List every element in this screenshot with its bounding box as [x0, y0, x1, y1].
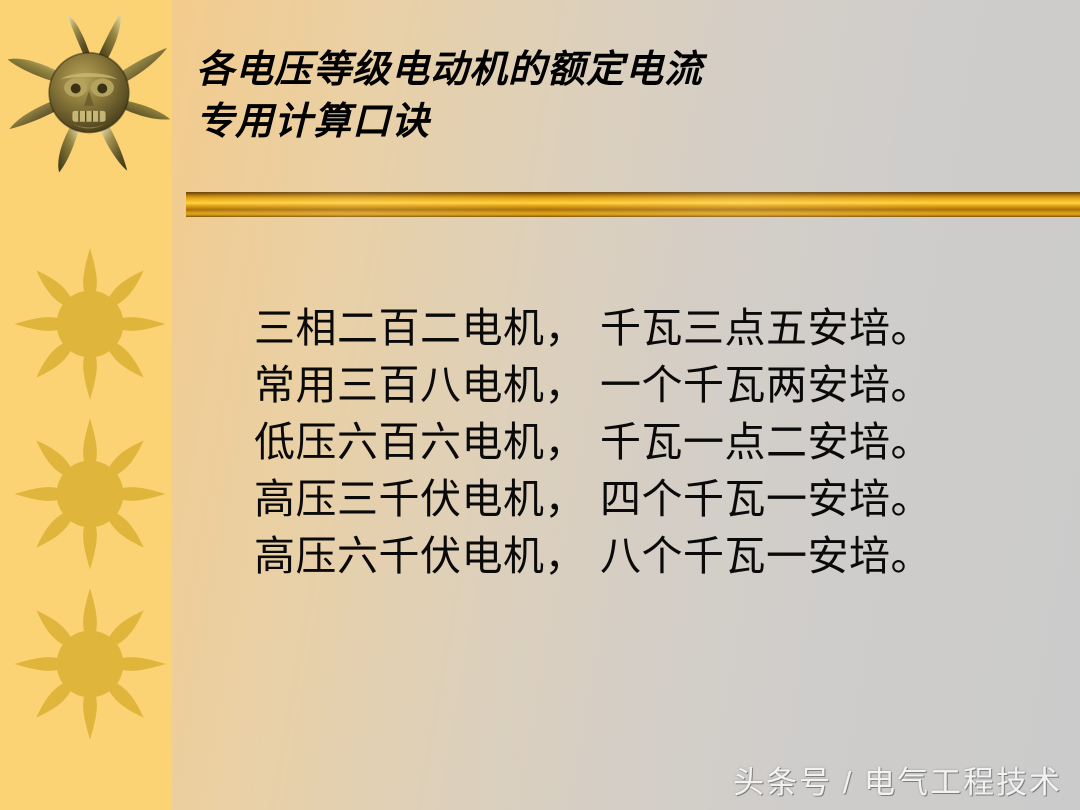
verse-line: 三相二百二电机，千瓦三点五安培。: [178, 300, 1008, 357]
verse-line-part-a: 低压六百六电机，: [254, 419, 586, 465]
verse-line-part-b: 四个千瓦一安培。: [600, 476, 932, 522]
verse-line: 高压三千伏电机，四个千瓦一安培。: [178, 471, 1008, 528]
verse-line-part-a: 常用三百八电机，: [254, 362, 586, 408]
verse-line-part-a: 高压三千伏电机，: [254, 476, 586, 522]
verse-line: 低压六百六电机，千瓦一点二安培。: [178, 414, 1008, 471]
sun-silhouette-icon-1: [2, 236, 178, 412]
verse-line-part-a: 三相二百二电机，: [254, 305, 586, 351]
page-title: 各电压等级电动机的额定电流 专用计算口诀: [196, 44, 1016, 148]
watermark-text: 头条号 / 电气工程技术: [733, 757, 1062, 802]
verse-line: 高压六千伏电机，八个千瓦一安培。: [178, 528, 1008, 585]
presentation-slide: 各电压等级电动机的额定电流 专用计算口诀 三相二百二电机，千瓦三点五安培。 常用…: [0, 0, 1080, 810]
verse-line-part-b: 千瓦三点五安培。: [600, 305, 932, 351]
gold-bar-divider: [186, 192, 1080, 217]
verse-line-part-b: 八个千瓦一安培。: [600, 533, 932, 579]
metallic-sun-face-ornament-icon: [6, 8, 172, 174]
verse-block: 三相二百二电机，千瓦三点五安培。 常用三百八电机，一个千瓦两安培。 低压六百六电…: [178, 300, 1008, 585]
verse-line: 常用三百八电机，一个千瓦两安培。: [178, 357, 1008, 414]
verse-line-part-a: 高压六千伏电机，: [254, 533, 586, 579]
verse-line-part-b: 一个千瓦两安培。: [600, 362, 932, 408]
sun-silhouette-icon-2: [2, 406, 178, 582]
sun-silhouette-icon-3: [2, 576, 178, 752]
verse-line-part-b: 千瓦一点二安培。: [600, 419, 932, 465]
